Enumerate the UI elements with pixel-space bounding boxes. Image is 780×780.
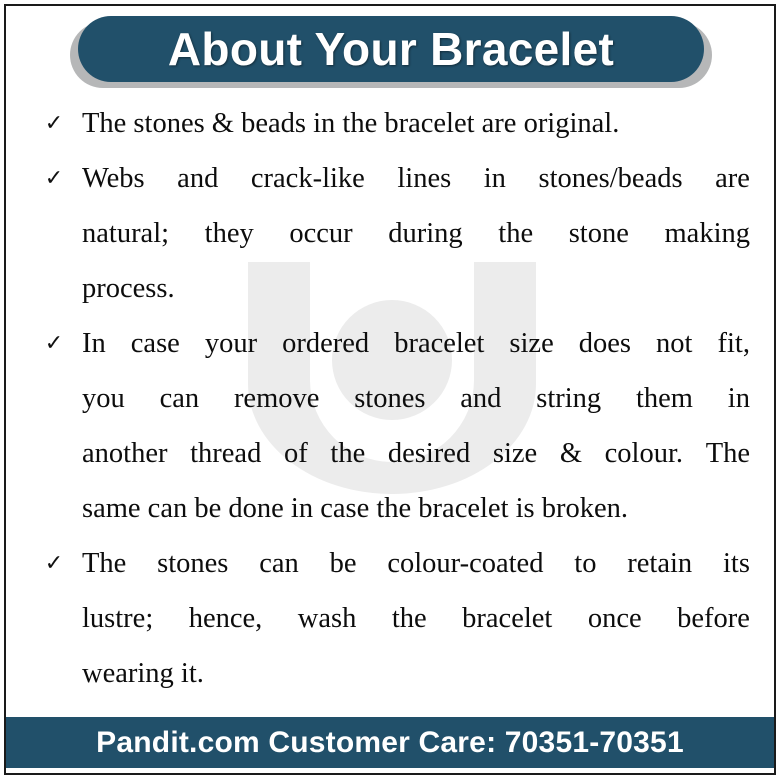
list-item-text: The stones & beads in the bracelet are o… [82,96,760,151]
word: The [82,536,126,591]
word: to [574,536,596,591]
word: fit, [718,316,750,371]
word: not [656,316,692,371]
word: thread [190,426,261,481]
list-item-line: anotherthreadofthedesiredsize&colour.The [82,426,750,481]
word: making [665,206,751,261]
word: size [509,316,553,371]
word: and [460,371,501,426]
word: the [330,426,365,481]
word: bracelet [462,591,552,646]
list-item: ✓ Incaseyourorderedbraceletsizedoesnotfi… [20,316,760,536]
word: be [330,536,357,591]
customer-care-text: Pandit.com Customer Care: 70351-70351 [96,726,684,760]
word: its [723,536,750,591]
list-item-text: Websandcrack-likelinesinstones/beadsare … [82,151,760,316]
list-item-line: Websandcrack-likelinesinstones/beadsare [82,151,750,206]
list-item-text: Thestonescanbecolour-coatedtoretainits l… [82,536,760,701]
word: colour-coated [387,536,543,591]
word: size [493,426,537,481]
word: they [205,206,254,261]
word: in [728,371,750,426]
list-item-line: Thestonescanbecolour-coatedtoretainits [82,536,750,591]
check-icon: ✓ [20,151,82,206]
word: lustre; [82,591,153,646]
list-item: ✓ Thestonescanbecolour-coatedtoretainits… [20,536,760,701]
list-item-line: process. [82,261,750,316]
word: you [82,371,125,426]
list-item-line: wearing it. [82,646,750,701]
word: bracelet [394,316,484,371]
word: stones [354,371,425,426]
word: and [177,151,218,206]
word: once [588,591,642,646]
word: before [677,591,750,646]
word: during [388,206,462,261]
list-item: ✓ The stones & beads in the bracelet are… [20,96,760,151]
word: can [259,536,299,591]
word: the [498,206,533,261]
word: stone [569,206,629,261]
word: are [715,151,750,206]
word: desired [388,426,470,481]
word: ordered [282,316,369,371]
list-item-line: lustre;hence,washthebraceletoncebefore [82,591,750,646]
word: string [536,371,601,426]
list-item-line: Incaseyourorderedbraceletsizedoesnotfit, [82,316,750,371]
list-item: ✓ Websandcrack-likelinesinstones/beadsar… [20,151,760,316]
word: can [160,371,200,426]
word: In [82,316,106,371]
word: them [636,371,693,426]
word: does [579,316,631,371]
word: Webs [82,151,145,206]
about-your-bracelet-card: About Your Bracelet ✓ The stones & beads… [0,0,780,780]
word: crack-like [251,151,365,206]
check-icon: ✓ [20,96,82,151]
word: retain [627,536,692,591]
list-item-text: Incaseyourorderedbraceletsizedoesnotfit,… [82,316,760,536]
word: lines [397,151,451,206]
word: in [484,151,506,206]
check-icon: ✓ [20,316,82,371]
page-title: About Your Bracelet [168,26,614,72]
check-icon: ✓ [20,536,82,591]
list-item-line: natural;theyoccurduringthestonemaking [82,206,750,261]
word: occur [289,206,352,261]
word: The [706,426,750,481]
word: natural; [82,206,169,261]
word: & [560,426,582,481]
word: your [205,316,257,371]
list-item-line: youcanremovestonesandstringthemin [82,371,750,426]
bullet-list: ✓ The stones & beads in the bracelet are… [20,96,760,701]
word: case [131,316,180,371]
header-pill: About Your Bracelet [78,16,704,82]
word: another [82,426,167,481]
word: colour. [605,426,683,481]
word: stones/beads [539,151,683,206]
list-item-line: same can be done in case the bracelet is… [82,481,750,536]
header-banner: About Your Bracelet [0,12,780,90]
footer-bar: Pandit.com Customer Care: 70351-70351 [6,717,774,768]
word: remove [234,371,319,426]
word: stones [157,536,228,591]
word: of [284,426,308,481]
word: hence, [189,591,263,646]
word: the [392,591,427,646]
word: wash [298,591,357,646]
